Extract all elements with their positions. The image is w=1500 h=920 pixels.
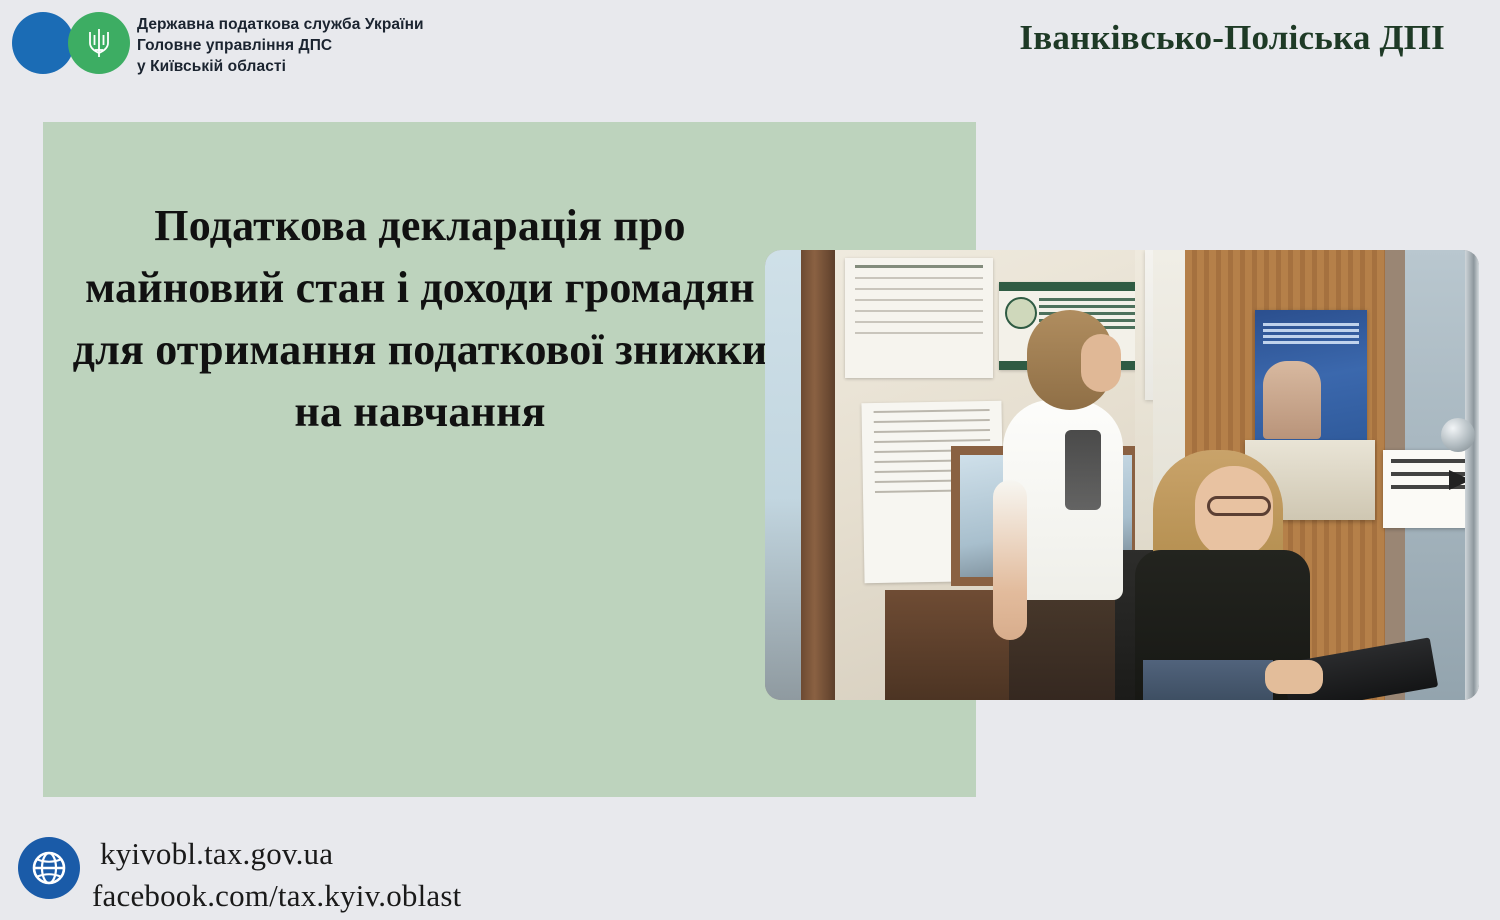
photo-person-standing-arm — [993, 480, 1027, 640]
photo-person-standing-shirt-print — [1065, 430, 1101, 510]
photo-person-seated-glasses — [1207, 496, 1271, 516]
photo-metal-frame — [1465, 250, 1479, 700]
footer-links: kyivobl.tax.gov.ua facebook.com/tax.kyiv… — [92, 833, 461, 917]
org-line-3: у Київській області — [137, 56, 424, 77]
organization-name: Державна податкова служба України Головн… — [137, 14, 424, 77]
green-circle-icon — [68, 12, 130, 74]
facebook-link[interactable]: facebook.com/tax.kyiv.oblast — [92, 875, 461, 917]
org-line-2: Головне управління ДПС — [137, 35, 424, 56]
org-line-1: Державна податкова служба України — [137, 14, 424, 35]
photo-door-knob — [1441, 418, 1475, 452]
photo-blue-poster — [1255, 310, 1367, 445]
website-link[interactable]: kyivobl.tax.gov.ua — [92, 833, 461, 875]
page-title: Податкова декларація про майновий стан і… — [70, 195, 770, 443]
photo-person-seated-hand — [1265, 660, 1323, 694]
globe-icon — [18, 837, 80, 899]
photo-person-seated-jeans — [1143, 660, 1273, 700]
photo-sign-emblem-icon — [1005, 297, 1037, 329]
logo — [12, 12, 130, 74]
photo-blue-poster-person — [1263, 361, 1321, 439]
page-header: Державна податкова служба України Головн… — [0, 0, 1500, 100]
ukraine-trident-icon — [86, 26, 112, 60]
page-footer: kyivobl.tax.gov.ua facebook.com/tax.kyiv… — [0, 815, 1500, 920]
photo-notice-paper-1 — [845, 258, 993, 378]
blue-circle-icon — [12, 12, 74, 74]
photo-door-frame — [801, 250, 835, 700]
globe-glyph — [29, 848, 69, 888]
photo-blue-poster-text — [1263, 320, 1359, 347]
office-photo — [765, 250, 1479, 700]
photo-scene — [765, 250, 1479, 700]
unit-title: Іванківсько-Поліська ДПІ — [1019, 18, 1445, 58]
photo-person-standing-face — [1081, 334, 1121, 392]
